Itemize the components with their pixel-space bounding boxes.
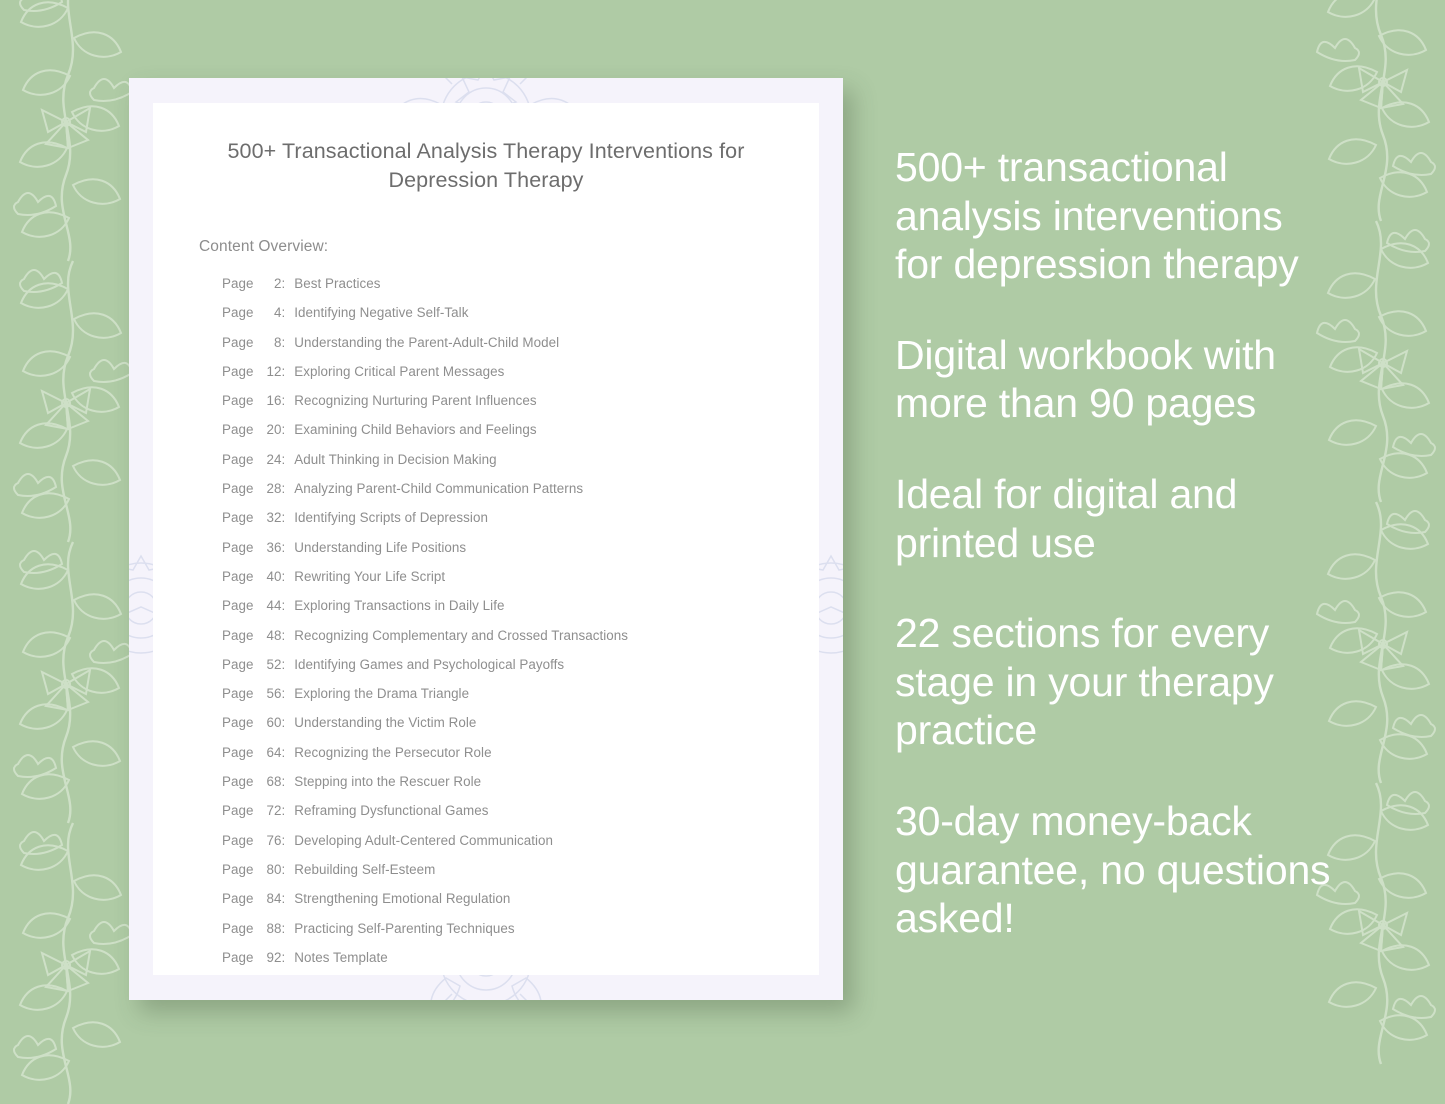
toc-entry-title: Exploring the Drama Triangle [294,686,469,701]
toc-entry-title: Examining Child Behaviors and Feelings [294,422,536,437]
table-row: Page20:Examining Child Behaviors and Fee… [222,422,777,451]
toc-page-word: Page [222,862,253,877]
toc-colon: : [281,891,285,906]
toc-entry-title: Recognizing Complementary and Crossed Tr… [294,628,628,643]
toc-page-number: 64 [257,745,281,760]
toc-page-number: 60 [257,715,281,730]
toc-page-number: 84 [257,891,281,906]
toc-colon: : [281,657,285,672]
toc-entry-title: Understanding the Victim Role [294,715,476,730]
toc-colon: : [281,628,285,643]
toc-entry-title: Identifying Games and Psychological Payo… [294,657,564,672]
toc-colon: : [281,540,285,555]
toc-page-number: 88 [257,921,281,936]
table-row: Page32:Identifying Scripts of Depression [222,510,777,539]
table-row: Page80:Rebuilding Self-Esteem [222,862,777,891]
table-row: Page16:Recognizing Nurturing Parent Infl… [222,393,777,422]
table-row: Page28:Analyzing Parent-Child Communicat… [222,481,777,510]
toc-page-word: Page [222,598,253,613]
table-row: Page44:Exploring Transactions in Daily L… [222,598,777,627]
toc-entry-title: Practicing Self-Parenting Techniques [294,921,514,936]
marketing-bullet: Digital workbook with more than 90 pages [895,331,1335,428]
content-overview-label: Content Overview: [199,238,777,256]
toc-colon: : [281,686,285,701]
toc-page-number: 20 [257,422,281,437]
toc-colon: : [281,452,285,467]
marketing-bullet: 30-day money-back guarantee, no question… [895,797,1335,943]
toc-page-number: 4 [257,305,281,320]
table-row: Page8:Understanding the Parent-Adult-Chi… [222,335,777,364]
toc-entry-title: Rebuilding Self-Esteem [294,862,435,877]
toc-page-number: 72 [257,803,281,818]
toc-page-word: Page [222,364,253,379]
table-row: Page36:Understanding Life Positions [222,540,777,569]
table-of-contents: Page2:Best PracticesPage4:Identifying Ne… [222,276,777,979]
toc-colon: : [281,276,285,291]
toc-entry-title: Recognizing the Persecutor Role [294,745,491,760]
table-row: Page72:Reframing Dysfunctional Games [222,803,777,832]
toc-page-word: Page [222,833,253,848]
table-row: Page2:Best Practices [222,276,777,305]
toc-entry-title: Exploring Critical Parent Messages [294,364,504,379]
toc-page-word: Page [222,569,253,584]
toc-entry-title: Identifying Negative Self-Talk [294,305,468,320]
marketing-bullet: Ideal for digital and printed use [895,470,1335,567]
toc-page-number: 52 [257,657,281,672]
table-row: Page48:Recognizing Complementary and Cro… [222,628,777,657]
marketing-bullet: 22 sections for every stage in your ther… [895,609,1335,755]
toc-page-word: Page [222,540,253,555]
toc-entry-title: Understanding the Parent-Adult-Child Mod… [294,335,559,350]
toc-colon: : [281,833,285,848]
toc-entry-title: Analyzing Parent-Child Communication Pat… [294,481,583,496]
toc-page-number: 28 [257,481,281,496]
table-row: Page52:Identifying Games and Psychologic… [222,657,777,686]
toc-entry-title: Reframing Dysfunctional Games [294,803,488,818]
toc-page-number: 56 [257,686,281,701]
toc-colon: : [281,481,285,496]
toc-page-word: Page [222,803,253,818]
marketing-bullet: 500+ transactional analysis intervention… [895,143,1335,289]
toc-page-number: 80 [257,862,281,877]
toc-entry-title: Stepping into the Rescuer Role [294,774,481,789]
table-row: Page68:Stepping into the Rescuer Role [222,774,777,803]
toc-entry-title: Recognizing Nurturing Parent Influences [294,393,536,408]
toc-colon: : [281,393,285,408]
table-row: Page84:Strengthening Emotional Regulatio… [222,891,777,920]
toc-page-word: Page [222,510,253,525]
toc-colon: : [281,715,285,730]
toc-entry-title: Adult Thinking in Decision Making [294,452,496,467]
toc-page-number: 48 [257,628,281,643]
toc-entry-title: Developing Adult-Centered Communication [294,833,553,848]
toc-colon: : [281,862,285,877]
table-row: Page92:Notes Template [222,950,777,979]
toc-page-word: Page [222,745,253,760]
toc-entry-title: Rewriting Your Life Script [294,569,445,584]
toc-page-number: 92 [257,950,281,965]
toc-page-number: 44 [257,598,281,613]
toc-page-word: Page [222,628,253,643]
table-row: Page4:Identifying Negative Self-Talk [222,305,777,334]
toc-page-word: Page [222,276,253,291]
toc-colon: : [281,305,285,320]
toc-entry-title: Understanding Life Positions [294,540,466,555]
toc-colon: : [281,774,285,789]
product-preview-card: 500+ Transactional Analysis Therapy Inte… [129,78,843,1000]
toc-entry-title: Strengthening Emotional Regulation [294,891,510,906]
toc-page-word: Page [222,481,253,496]
table-row: Page64:Recognizing the Persecutor Role [222,745,777,774]
toc-page-word: Page [222,452,253,467]
toc-page-number: 12 [257,364,281,379]
toc-colon: : [281,335,285,350]
table-row: Page40:Rewriting Your Life Script [222,569,777,598]
toc-page-word: Page [222,774,253,789]
toc-colon: : [281,569,285,584]
toc-page-number: 24 [257,452,281,467]
marketing-panel: 500+ transactional analysis intervention… [895,143,1335,943]
toc-page-word: Page [222,335,253,350]
toc-page-number: 68 [257,774,281,789]
toc-page-number: 36 [257,540,281,555]
toc-entry-title: Notes Template [294,950,388,965]
toc-colon: : [281,803,285,818]
table-row: Page56:Exploring the Drama Triangle [222,686,777,715]
toc-page-word: Page [222,305,253,320]
table-row: Page24:Adult Thinking in Decision Making [222,452,777,481]
toc-page-word: Page [222,657,253,672]
table-row: Page76:Developing Adult-Centered Communi… [222,833,777,862]
toc-page-word: Page [222,715,253,730]
toc-colon: : [281,921,285,936]
toc-colon: : [281,422,285,437]
toc-page-word: Page [222,686,253,701]
card-inner-panel: 500+ Transactional Analysis Therapy Inte… [153,103,819,975]
toc-colon: : [281,598,285,613]
toc-page-word: Page [222,393,253,408]
table-row: Page88:Practicing Self-Parenting Techniq… [222,921,777,950]
toc-page-number: 8 [257,335,281,350]
toc-page-number: 2 [257,276,281,291]
toc-colon: : [281,745,285,760]
toc-entry-title: Best Practices [294,276,380,291]
toc-entry-title: Identifying Scripts of Depression [294,510,488,525]
toc-page-number: 40 [257,569,281,584]
toc-page-number: 16 [257,393,281,408]
toc-page-word: Page [222,921,253,936]
toc-page-word: Page [222,891,253,906]
toc-entry-title: Exploring Transactions in Daily Life [294,598,504,613]
toc-page-word: Page [222,422,253,437]
toc-colon: : [281,364,285,379]
page-title: 500+ Transactional Analysis Therapy Inte… [195,137,777,195]
table-row: Page60:Understanding the Victim Role [222,715,777,744]
table-row: Page12:Exploring Critical Parent Message… [222,364,777,393]
toc-page-number: 76 [257,833,281,848]
toc-page-word: Page [222,950,253,965]
toc-colon: : [281,950,285,965]
toc-colon: : [281,510,285,525]
toc-page-number: 32 [257,510,281,525]
